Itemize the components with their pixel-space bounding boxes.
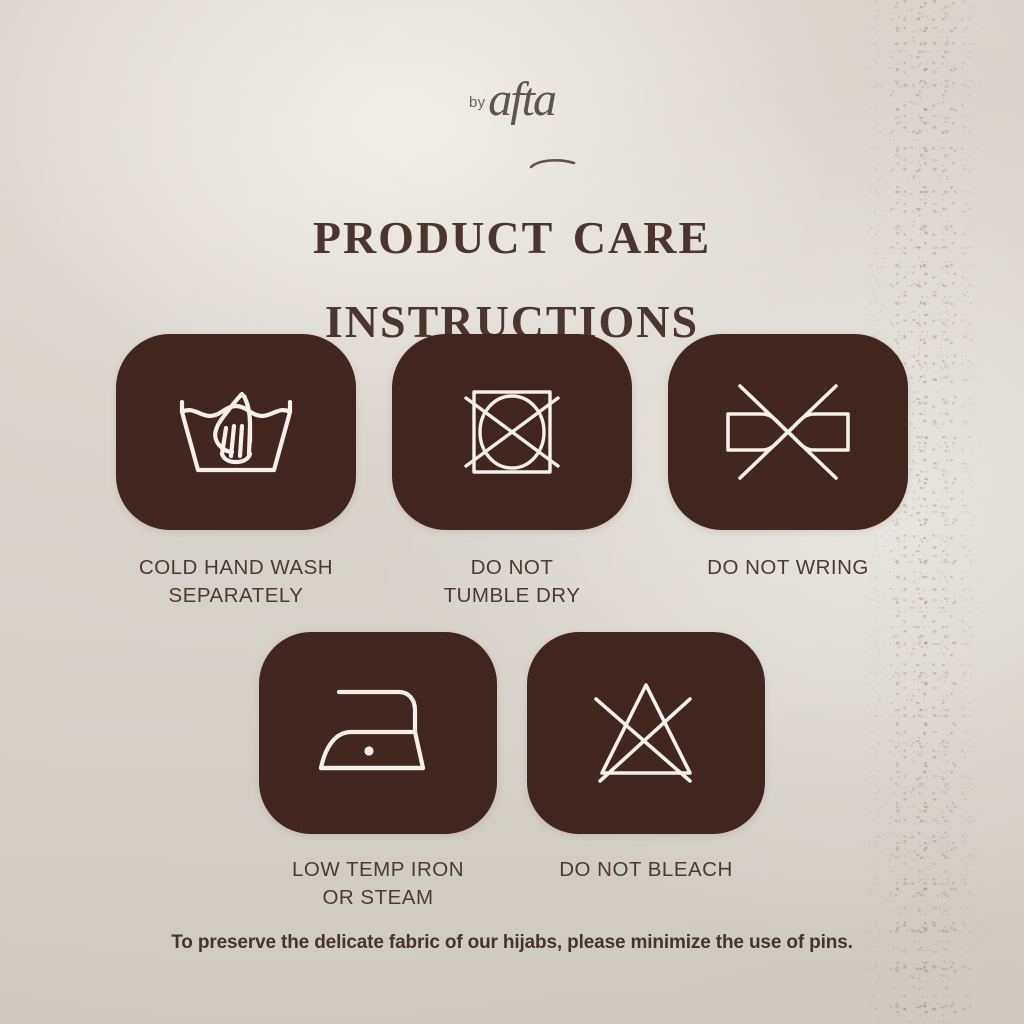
care-icon-tile [259, 632, 497, 834]
care-item-do-not-wring: Do Not Wring [668, 334, 908, 610]
care-row-1: Cold Hand Wash Separately [0, 334, 1024, 610]
care-icon-tile [392, 334, 632, 530]
care-item-caption: Cold Hand Wash Separately [139, 554, 333, 610]
hand-wash-icon [170, 372, 302, 492]
caption-line-1: Do Not [444, 554, 581, 582]
caption-line-1: Do Not Wring [707, 554, 869, 582]
no-bleach-icon [586, 675, 706, 791]
care-item-caption: Do Not Wring [707, 554, 869, 582]
care-icon-tile [116, 334, 356, 530]
footer-note: To preserve the delicate fabric of our h… [0, 932, 1024, 954]
care-item-caption: Do Not Tumble Dry [444, 554, 581, 610]
caption-line-1: Cold Hand Wash [139, 554, 333, 582]
caption-line-2: Or Steam [292, 884, 464, 912]
care-item-cold-hand-wash: Cold Hand Wash Separately [116, 334, 356, 610]
caption-line-1: Low Temp Iron [292, 856, 464, 884]
care-icon-tile [527, 632, 765, 834]
care-icon-tile [668, 334, 908, 530]
caption-line-1: Do Not Bleach [559, 856, 733, 884]
care-item-low-temp-iron: Low Temp Iron Or Steam [259, 632, 497, 912]
brand-logo: byafta [0, 76, 1024, 124]
no-tumble-dry-icon [452, 372, 572, 492]
brand-prefix: by [469, 94, 485, 111]
care-row-2: Low Temp Iron Or Steam Do Not Bleach [0, 632, 1024, 912]
caption-line-2: Separately [139, 582, 333, 610]
care-item-do-not-bleach: Do Not Bleach [527, 632, 765, 912]
caption-line-2: Tumble Dry [444, 582, 581, 610]
brand-name: afta [488, 73, 555, 126]
care-item-caption: Do Not Bleach [559, 856, 733, 884]
brand-swash-icon [530, 158, 576, 170]
no-wring-icon [718, 372, 858, 492]
care-item-do-not-tumble-dry: Do Not Tumble Dry [392, 334, 632, 610]
low-temp-iron-icon [311, 678, 445, 788]
page-title-line-1: Product Care [0, 190, 1024, 274]
care-item-caption: Low Temp Iron Or Steam [292, 856, 464, 912]
product-care-card: byafta Product Care Instructions [0, 0, 1024, 1024]
